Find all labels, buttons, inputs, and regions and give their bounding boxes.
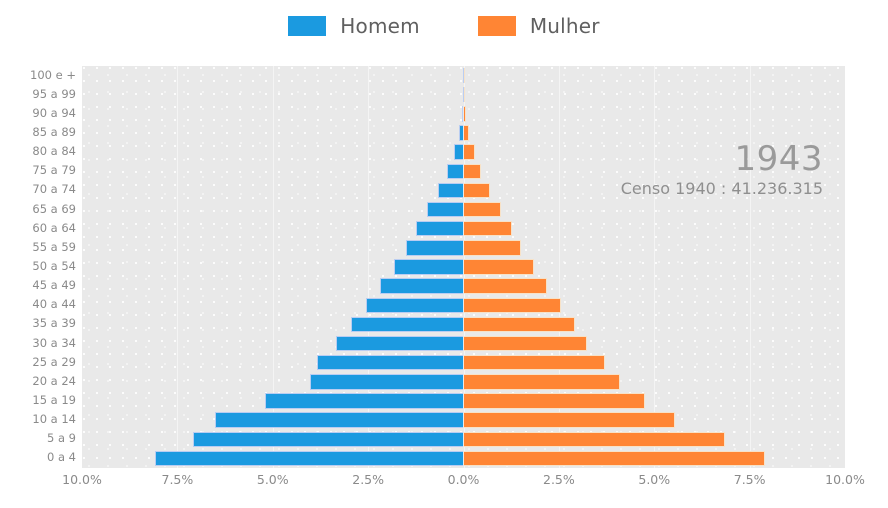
male-color-swatch — [288, 16, 326, 36]
bar-row — [82, 336, 845, 351]
bar-row — [82, 278, 845, 293]
bar-row — [82, 125, 845, 140]
bar-row — [82, 221, 845, 236]
bar-row — [82, 87, 845, 102]
bar-rows — [82, 66, 845, 468]
bar-female[interactable] — [464, 298, 561, 313]
bar-row — [82, 164, 845, 179]
bar-male[interactable] — [351, 317, 463, 332]
bar-row — [82, 355, 845, 370]
bar-female[interactable] — [464, 87, 465, 102]
bar-female[interactable] — [464, 164, 481, 179]
x-tick-label: 7.5% — [161, 474, 193, 487]
bar-male[interactable] — [193, 432, 463, 447]
population-pyramid-figure: Homem Mulher 100 e +95 a 9990 a 9485 a 8… — [0, 0, 888, 508]
x-tick-label: 10.0% — [62, 474, 102, 487]
x-tick-label: 2.5% — [543, 474, 575, 487]
bar-male[interactable] — [416, 221, 463, 236]
y-tick-label: 15 a 19 — [32, 395, 76, 407]
x-tick-label: 7.5% — [734, 474, 766, 487]
bar-row — [82, 317, 845, 332]
y-tick-label: 90 a 94 — [32, 108, 76, 120]
bar-male[interactable] — [438, 183, 463, 198]
x-tick-label: 5.0% — [638, 474, 670, 487]
bar-row — [82, 298, 845, 313]
bar-female[interactable] — [464, 202, 502, 217]
y-tick-label: 20 a 24 — [32, 376, 76, 388]
bar-male[interactable] — [394, 259, 464, 274]
bar-row — [82, 240, 845, 255]
bar-female[interactable] — [464, 240, 522, 255]
y-tick-label: 60 a 64 — [32, 223, 76, 235]
bar-female[interactable] — [464, 317, 575, 332]
bar-row — [82, 68, 845, 83]
legend-entry-homem[interactable]: Homem — [288, 14, 420, 38]
x-tick-label: 0.0% — [448, 474, 480, 487]
bar-row — [82, 202, 845, 217]
bar-female[interactable] — [464, 259, 534, 274]
bar-male[interactable] — [265, 393, 463, 408]
bar-female[interactable] — [464, 374, 620, 389]
x-tick-label: 5.0% — [257, 474, 289, 487]
bar-female[interactable] — [464, 336, 588, 351]
bar-female[interactable] — [464, 221, 512, 236]
y-tick-label: 40 a 44 — [32, 299, 76, 311]
census-annotation: Censo 1940 : 41.236.315 — [621, 181, 823, 197]
female-color-swatch — [478, 16, 516, 36]
bar-male[interactable] — [380, 278, 463, 293]
y-tick-label: 5 a 9 — [47, 433, 76, 445]
y-tick-label: 0 a 4 — [47, 452, 76, 464]
bar-male[interactable] — [310, 374, 464, 389]
y-tick-label: 100 e + — [30, 70, 76, 82]
legend-entry-mulher[interactable]: Mulher — [478, 14, 600, 38]
bar-male[interactable] — [454, 144, 464, 159]
bar-female[interactable] — [464, 183, 491, 198]
y-tick-label: 45 a 49 — [32, 280, 76, 292]
bar-male[interactable] — [406, 240, 464, 255]
bar-female[interactable] — [464, 451, 765, 466]
y-tick-label: 55 a 59 — [32, 242, 76, 254]
bar-row — [82, 374, 845, 389]
legend-label-homem: Homem — [340, 14, 420, 38]
bar-male[interactable] — [447, 164, 463, 179]
y-tick-label: 65 a 69 — [32, 204, 76, 216]
y-tick-label: 75 a 79 — [32, 165, 76, 177]
y-tick-label: 50 a 54 — [32, 261, 76, 273]
year-annotation: 1943 — [734, 142, 823, 176]
bar-row — [82, 412, 845, 427]
bar-male[interactable] — [317, 355, 463, 370]
y-axis-age-groups: 100 e +95 a 9990 a 9485 a 8980 a 8475 a … — [0, 66, 76, 468]
legend-label-mulher: Mulher — [530, 14, 600, 38]
y-tick-label: 80 a 84 — [32, 146, 76, 158]
bar-row — [82, 106, 845, 121]
bar-female[interactable] — [464, 125, 469, 140]
bar-row — [82, 259, 845, 274]
bar-female[interactable] — [464, 412, 675, 427]
bar-row — [82, 432, 845, 447]
bar-male[interactable] — [366, 298, 463, 313]
x-axis-percent: 10.0%7.5%5.0%2.5%0.0%2.5%5.0%7.5%10.0% — [82, 474, 845, 498]
y-tick-label: 70 a 74 — [32, 184, 76, 196]
y-tick-label: 25 a 29 — [32, 357, 76, 369]
bar-female[interactable] — [464, 68, 465, 83]
bar-male[interactable] — [336, 336, 463, 351]
y-tick-label: 95 a 99 — [32, 89, 76, 101]
bar-male[interactable] — [215, 412, 463, 427]
bar-row — [82, 144, 845, 159]
bar-female[interactable] — [464, 106, 466, 121]
plot-area: 1943 Censo 1940 : 41.236.315 — [82, 66, 845, 468]
bar-row — [82, 451, 845, 466]
bar-female[interactable] — [464, 393, 646, 408]
bar-female[interactable] — [464, 355, 606, 370]
y-tick-label: 10 a 14 — [32, 414, 76, 426]
bar-row — [82, 393, 845, 408]
bar-female[interactable] — [464, 432, 726, 447]
bar-female[interactable] — [464, 278, 548, 293]
bar-male[interactable] — [427, 202, 463, 217]
y-tick-label: 85 a 89 — [32, 127, 76, 139]
bar-female[interactable] — [464, 144, 475, 159]
y-tick-label: 30 a 34 — [32, 338, 76, 350]
y-tick-label: 35 a 39 — [32, 318, 76, 330]
chart-legend: Homem Mulher — [0, 14, 888, 38]
x-tick-label: 10.0% — [825, 474, 865, 487]
bar-male[interactable] — [155, 451, 463, 466]
x-tick-label: 2.5% — [352, 474, 384, 487]
